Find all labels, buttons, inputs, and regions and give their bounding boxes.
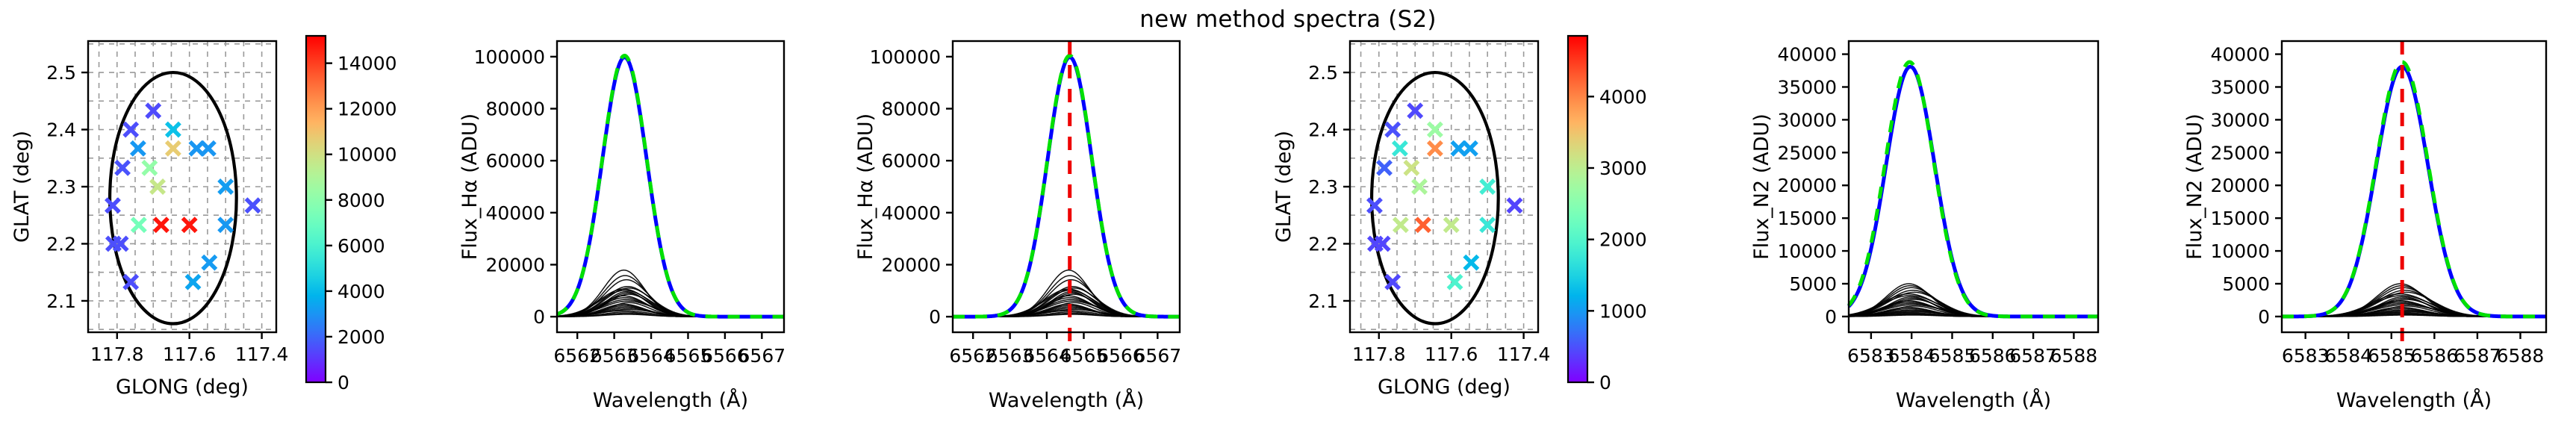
fit-curve: [953, 56, 1180, 317]
scatter-marker: [167, 142, 180, 155]
scatter-marker: [167, 123, 180, 137]
svg-text:2.1: 2.1: [46, 290, 76, 312]
svg-text:100000: 100000: [870, 46, 941, 68]
svg-text:2.5: 2.5: [1308, 62, 1338, 84]
component-curves: [953, 270, 1180, 317]
component-curves: [557, 270, 784, 317]
svg-text:0: 0: [929, 306, 941, 328]
svg-text:Wavelength (Å): Wavelength (Å): [2336, 388, 2492, 412]
svg-text:GLONG (deg): GLONG (deg): [1378, 376, 1511, 399]
svg-text:Wavelength (Å): Wavelength (Å): [593, 388, 748, 412]
figure-canvas: new method spectra (S2) 117.8117.6117.42…: [0, 0, 2576, 448]
panel-spectrum-halpha-left: 6562656365646565656665670200004000060000…: [418, 0, 814, 448]
svg-text:40000: 40000: [881, 202, 941, 224]
svg-text:4000: 4000: [337, 281, 385, 302]
svg-text:6584: 6584: [2324, 345, 2372, 367]
scatter-marker: [1428, 142, 1442, 155]
svg-text:40000: 40000: [2210, 44, 2270, 66]
svg-text:30000: 30000: [2210, 109, 2270, 131]
svg-text:30000: 30000: [1777, 109, 1837, 131]
svg-text:10000: 10000: [1777, 240, 1837, 262]
panel-spectrum-n2-left: 6583658465856586658765880500010000150002…: [1710, 0, 2128, 448]
svg-text:5000: 5000: [1789, 273, 1837, 295]
svg-text:117.6: 117.6: [163, 343, 217, 365]
model-curve: [557, 57, 784, 317]
svg-text:0: 0: [1599, 372, 1611, 393]
svg-text:6588: 6588: [2497, 345, 2545, 367]
scatter-marker: [187, 276, 200, 289]
model-curve: [2282, 66, 2546, 317]
svg-text:6000: 6000: [337, 235, 385, 257]
panel-map-n2: 117.8117.6117.42.12.22.32.42.5GLONG (deg…: [1262, 0, 1680, 448]
svg-text:Flux_N2 (ADU): Flux_N2 (ADU): [2183, 113, 2206, 260]
svg-text:40000: 40000: [485, 202, 545, 224]
svg-text:20000: 20000: [485, 254, 545, 276]
svg-text:GLAT (deg): GLAT (deg): [1272, 131, 1295, 243]
scatter-marker: [1464, 256, 1478, 270]
svg-text:117.4: 117.4: [1497, 343, 1551, 365]
svg-text:40000: 40000: [1777, 44, 1837, 66]
svg-text:117.8: 117.8: [90, 343, 144, 365]
svg-text:80000: 80000: [485, 99, 545, 120]
svg-text:2.4: 2.4: [46, 119, 76, 141]
svg-text:2.4: 2.4: [1308, 119, 1338, 141]
scatter-marker: [202, 142, 215, 155]
svg-text:0: 0: [1825, 306, 1837, 328]
scatter-marker: [132, 218, 146, 231]
panel-spectrum-n2-right: 6583658465856586658765880500010000150002…: [2143, 0, 2576, 448]
svg-text:35000: 35000: [2210, 76, 2270, 98]
svg-text:100000: 100000: [474, 46, 545, 68]
scatter-marker: [1508, 199, 1522, 212]
svg-text:25000: 25000: [1777, 142, 1837, 164]
svg-text:6585: 6585: [2368, 345, 2415, 367]
svg-text:10000: 10000: [2210, 240, 2270, 262]
scatter-marker: [1416, 218, 1430, 231]
component-curves: [2282, 284, 2546, 317]
scatter-marker: [1404, 161, 1418, 175]
svg-text:1000: 1000: [1599, 300, 1647, 322]
svg-text:10000: 10000: [337, 144, 397, 166]
svg-text:Flux_Hα (ADU): Flux_Hα (ADU): [854, 113, 877, 260]
svg-text:2000: 2000: [1599, 229, 1647, 251]
svg-text:0: 0: [533, 306, 545, 328]
svg-text:6587: 6587: [2454, 345, 2501, 367]
colorbar-gradient: [306, 36, 326, 382]
panel-map-halpha: 117.8117.6117.42.12.22.32.42.5GLONG (deg…: [0, 0, 418, 448]
svg-text:20000: 20000: [2210, 175, 2270, 196]
svg-text:Wavelength (Å): Wavelength (Å): [989, 388, 1144, 412]
scatter-marker: [1449, 276, 1462, 289]
svg-text:20000: 20000: [881, 254, 941, 276]
svg-text:2.3: 2.3: [46, 176, 76, 198]
svg-text:8000: 8000: [337, 190, 385, 211]
svg-text:12000: 12000: [337, 99, 397, 120]
svg-text:2.5: 2.5: [46, 62, 76, 84]
svg-text:20000: 20000: [1777, 175, 1837, 196]
scatter-marker: [155, 218, 168, 231]
model-curve: [1849, 66, 2098, 317]
svg-text:117.6: 117.6: [1425, 343, 1478, 365]
panel-spectrum-halpha-right: 6562656365646565656665670200004000060000…: [814, 0, 1210, 448]
svg-text:2000: 2000: [337, 326, 385, 348]
scatter-marker: [1428, 123, 1442, 137]
svg-text:2.1: 2.1: [1308, 290, 1338, 312]
svg-text:6567: 6567: [738, 345, 786, 367]
svg-text:6583: 6583: [2282, 345, 2330, 367]
model-curve: [953, 57, 1180, 317]
colorbar-gradient: [1568, 36, 1587, 382]
svg-text:Flux_N2 (ADU): Flux_N2 (ADU): [1750, 113, 1773, 260]
svg-text:2.2: 2.2: [46, 233, 76, 255]
svg-text:15000: 15000: [2210, 208, 2270, 229]
scatter-marker: [1463, 142, 1477, 155]
scatter-marker: [1368, 199, 1381, 212]
svg-text:117.8: 117.8: [1352, 343, 1406, 365]
svg-text:60000: 60000: [485, 150, 545, 172]
svg-text:Wavelength (Å): Wavelength (Å): [1896, 388, 2051, 412]
svg-text:GLAT (deg): GLAT (deg): [10, 131, 34, 243]
scatter-marker: [202, 256, 216, 270]
svg-text:35000: 35000: [1777, 76, 1837, 98]
scatter-marker: [116, 161, 129, 175]
component-curves: [1849, 284, 2098, 317]
svg-text:80000: 80000: [881, 99, 941, 120]
svg-text:3000: 3000: [1599, 158, 1647, 179]
svg-text:6588: 6588: [2050, 345, 2098, 367]
svg-text:4000: 4000: [1599, 86, 1647, 108]
svg-text:25000: 25000: [2210, 142, 2270, 164]
scatter-marker: [1393, 142, 1407, 155]
svg-text:0: 0: [2258, 306, 2270, 328]
scatter-marker: [246, 199, 260, 212]
svg-text:2.3: 2.3: [1308, 176, 1338, 198]
scatter-marker: [1394, 218, 1407, 231]
svg-text:60000: 60000: [881, 150, 941, 172]
svg-text:6567: 6567: [1134, 345, 1182, 367]
scatter-marker: [1378, 161, 1391, 175]
svg-text:14000: 14000: [337, 53, 397, 75]
svg-text:15000: 15000: [1777, 208, 1837, 229]
svg-text:GLONG (deg): GLONG (deg): [116, 376, 249, 399]
svg-text:2.2: 2.2: [1308, 233, 1338, 255]
fit-curve: [557, 56, 784, 317]
svg-text:0: 0: [337, 372, 349, 393]
svg-text:5000: 5000: [2222, 273, 2270, 295]
scatter-marker: [143, 161, 156, 175]
svg-text:117.4: 117.4: [235, 343, 289, 365]
fit-curve: [1849, 62, 2098, 317]
scatter-marker: [106, 199, 119, 212]
svg-text:Flux_Hα (ADU): Flux_Hα (ADU): [458, 113, 482, 260]
fit-curve: [2282, 62, 2546, 317]
scatter-marker: [131, 142, 145, 155]
svg-text:6586: 6586: [2411, 345, 2459, 367]
